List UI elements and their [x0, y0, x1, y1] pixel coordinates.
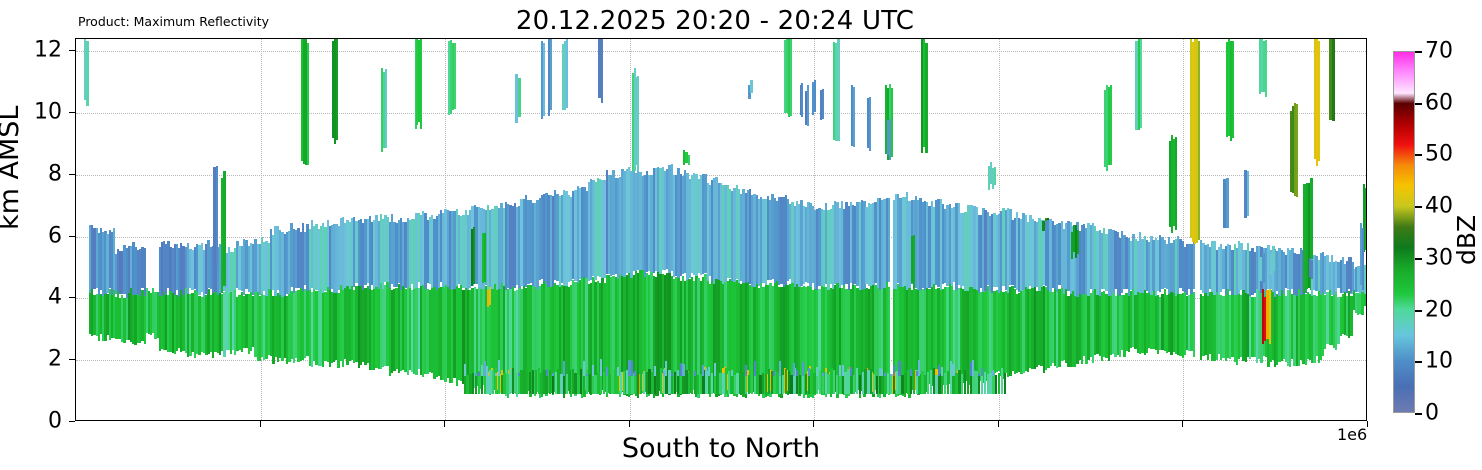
- mesh-speckle: [634, 371, 636, 375]
- colorbar-tick-label: 0: [1425, 401, 1439, 426]
- mesh-column: [869, 97, 871, 151]
- mesh-speckle: [552, 373, 554, 376]
- mesh-speckle: [708, 367, 710, 376]
- y-tick-label: 0: [28, 409, 62, 434]
- mesh-speckle: [617, 367, 619, 376]
- mesh-column: [473, 227, 475, 284]
- mesh-column: [336, 39, 338, 140]
- mesh-speckle: [665, 361, 667, 376]
- mesh-column: [420, 39, 422, 129]
- mesh-column: [1262, 253, 1265, 283]
- y-tick-label: 2: [28, 347, 62, 372]
- y-tick-label: 4: [28, 285, 62, 310]
- mesh-speckle: [779, 361, 781, 376]
- mesh-speckle: [972, 360, 974, 376]
- mesh-speckle: [464, 364, 466, 376]
- mesh-column: [1272, 246, 1275, 271]
- y-axis-label: km AMSL: [0, 106, 25, 230]
- mesh-speckle: [628, 360, 630, 376]
- mesh-speckle: [631, 361, 633, 376]
- page-title: 20.12.2025 20:20 - 20:24 UTC: [0, 6, 1430, 36]
- mesh-column: [1366, 263, 1367, 295]
- mesh-speckle: [842, 365, 844, 376]
- y-tick-label: 12: [28, 38, 62, 63]
- mesh-speckle: [546, 369, 548, 376]
- colorbar-tick-mark: [1415, 103, 1422, 105]
- y-tick-mark: [69, 421, 75, 422]
- mesh-speckle: [881, 369, 883, 375]
- mesh-column: [1232, 41, 1234, 138]
- colorbar-label: dBZ: [1452, 215, 1481, 265]
- colorbar-tick-mark: [1415, 154, 1422, 156]
- mesh-column: [1226, 178, 1229, 228]
- colorbar-tick-mark: [1415, 310, 1422, 312]
- colorbar-tick-mark: [1415, 51, 1422, 53]
- mesh-column: [1140, 39, 1142, 128]
- mesh-speckle: [481, 365, 483, 376]
- mesh-speckle: [808, 368, 810, 376]
- colorbar-tick-mark: [1415, 413, 1422, 415]
- mesh-column: [807, 85, 809, 126]
- mesh-column: [1269, 289, 1272, 344]
- mesh-speckle: [793, 363, 795, 376]
- mesh-column: [454, 43, 456, 109]
- mesh-column: [637, 76, 639, 171]
- mesh-speckle: [475, 373, 477, 376]
- mesh-speckle: [916, 371, 918, 376]
- mesh-speckle: [677, 370, 679, 376]
- mesh-column: [814, 80, 816, 112]
- mesh-speckle: [941, 367, 943, 376]
- mesh-column: [688, 155, 690, 164]
- colorbar-tick-label: 20: [1425, 297, 1453, 322]
- y-tick-label: 8: [28, 161, 62, 186]
- mesh-speckle: [796, 370, 798, 376]
- mesh-column: [1193, 292, 1195, 357]
- mesh-column: [889, 119, 891, 161]
- mesh-column: [925, 43, 927, 153]
- colorbar-tick-label: 60: [1425, 90, 1453, 115]
- mesh-speckle: [890, 374, 892, 376]
- x-tick-mark: [813, 421, 814, 427]
- mesh-column: [750, 80, 753, 93]
- mesh-speckle: [978, 374, 980, 376]
- mesh-column: [822, 89, 824, 119]
- mesh-speckle: [606, 367, 608, 375]
- y-tick-label: 10: [28, 100, 62, 125]
- mesh-column: [518, 78, 521, 117]
- colorbar-tick-mark: [1415, 206, 1422, 208]
- x-tick-mark: [1182, 421, 1183, 427]
- mesh-column: [216, 166, 219, 265]
- mesh-column: [1366, 296, 1367, 313]
- colorbar-tick-label: 10: [1425, 349, 1453, 374]
- mesh-column: [1352, 262, 1354, 291]
- mesh-column: [888, 198, 890, 282]
- mesh-column: [801, 83, 803, 117]
- mesh-speckle: [592, 365, 594, 376]
- mesh-speckle: [714, 363, 716, 376]
- mesh-speckle: [563, 361, 565, 376]
- mesh-speckle: [745, 365, 747, 376]
- mesh-speckle: [682, 364, 684, 376]
- mesh-column: [1247, 171, 1250, 216]
- colorbar[interactable]: [1393, 51, 1415, 413]
- mesh-column: [1110, 85, 1112, 164]
- mesh-speckle: [498, 360, 500, 376]
- mesh-speckle: [918, 360, 920, 375]
- colorbar-tick-mark: [1415, 258, 1422, 260]
- mesh-column: [913, 235, 915, 288]
- mesh-speckle: [671, 373, 673, 375]
- reflectivity-mesh: [76, 39, 1366, 420]
- colorbar-tick-label: 30: [1425, 245, 1453, 270]
- mesh-column: [1296, 104, 1298, 197]
- colorbar-gradient: [1394, 52, 1414, 412]
- mesh-speckle: [586, 374, 588, 376]
- mesh-column: [601, 39, 604, 103]
- mesh-column: [543, 43, 545, 116]
- mesh-speckle: [970, 362, 972, 376]
- mesh-column: [484, 233, 486, 282]
- x-axis-exponent-label: 1e6: [1337, 425, 1367, 444]
- mesh-speckle: [731, 370, 733, 376]
- mesh-speckle: [694, 371, 696, 375]
- mesh-speckle: [484, 361, 486, 376]
- mesh-column: [566, 39, 568, 108]
- mesh-column: [1362, 228, 1364, 290]
- mesh-speckle: [478, 372, 480, 376]
- x-tick-mark: [629, 421, 630, 427]
- mesh-speckle: [884, 373, 886, 375]
- mesh-speckle: [680, 363, 682, 376]
- x-tick-mark: [260, 421, 261, 427]
- mesh-column: [1193, 241, 1195, 288]
- mesh-column: [1175, 137, 1177, 230]
- mesh-speckle: [879, 368, 881, 376]
- mesh-speckle: [839, 365, 841, 375]
- mesh-column: [307, 43, 309, 165]
- mesh-speckle: [1004, 373, 1006, 395]
- mesh-column: [1318, 41, 1320, 160]
- mesh-speckle: [898, 361, 900, 375]
- mesh-speckle: [950, 361, 952, 376]
- mesh-column: [86, 41, 89, 105]
- mesh-column: [994, 167, 996, 185]
- mesh-speckle: [773, 371, 775, 376]
- mesh-column: [1311, 260, 1313, 279]
- mesh-speckle: [850, 367, 852, 375]
- mesh-speckle: [518, 373, 520, 376]
- mesh-column: [1265, 40, 1267, 97]
- x-tick-mark: [998, 421, 999, 427]
- x-tick-mark: [444, 421, 445, 427]
- mesh-speckle: [702, 365, 704, 376]
- mesh-column: [1198, 41, 1200, 240]
- x-axis-label: South to North: [75, 433, 1367, 464]
- mesh-speckle: [705, 368, 707, 375]
- plot-area[interactable]: [75, 38, 1367, 421]
- mesh-speckle: [495, 373, 497, 375]
- mesh-speckle: [992, 370, 994, 376]
- mesh-column: [385, 69, 387, 148]
- mesh-column: [1332, 39, 1335, 121]
- mesh-column: [837, 39, 839, 141]
- colorbar-tick-label: 50: [1425, 142, 1453, 167]
- mesh-column: [223, 171, 226, 286]
- mesh-speckle: [816, 367, 818, 376]
- mesh-speckle: [822, 373, 824, 376]
- mesh-speckle: [663, 371, 665, 376]
- mesh-column: [853, 87, 855, 146]
- mesh-column: [550, 39, 552, 110]
- mesh-speckle: [654, 366, 656, 376]
- mesh-speckle: [754, 361, 756, 376]
- colorbar-tick-label: 40: [1425, 194, 1453, 219]
- mesh-speckle: [981, 368, 983, 375]
- mesh-speckle: [910, 369, 912, 376]
- mesh-speckle: [486, 366, 488, 375]
- mesh-speckle: [893, 365, 895, 375]
- mesh-column: [489, 287, 491, 305]
- mesh-speckle: [583, 361, 585, 376]
- colorbar-tick-label: 70: [1425, 39, 1453, 64]
- y-tick-label: 6: [28, 223, 62, 248]
- mesh-speckle: [952, 364, 954, 376]
- mesh-speckle: [938, 365, 940, 376]
- colorbar-tick-mark: [1415, 361, 1422, 363]
- mesh-speckle: [802, 362, 804, 375]
- mesh-speckle: [600, 359, 602, 375]
- mesh-column: [790, 39, 792, 116]
